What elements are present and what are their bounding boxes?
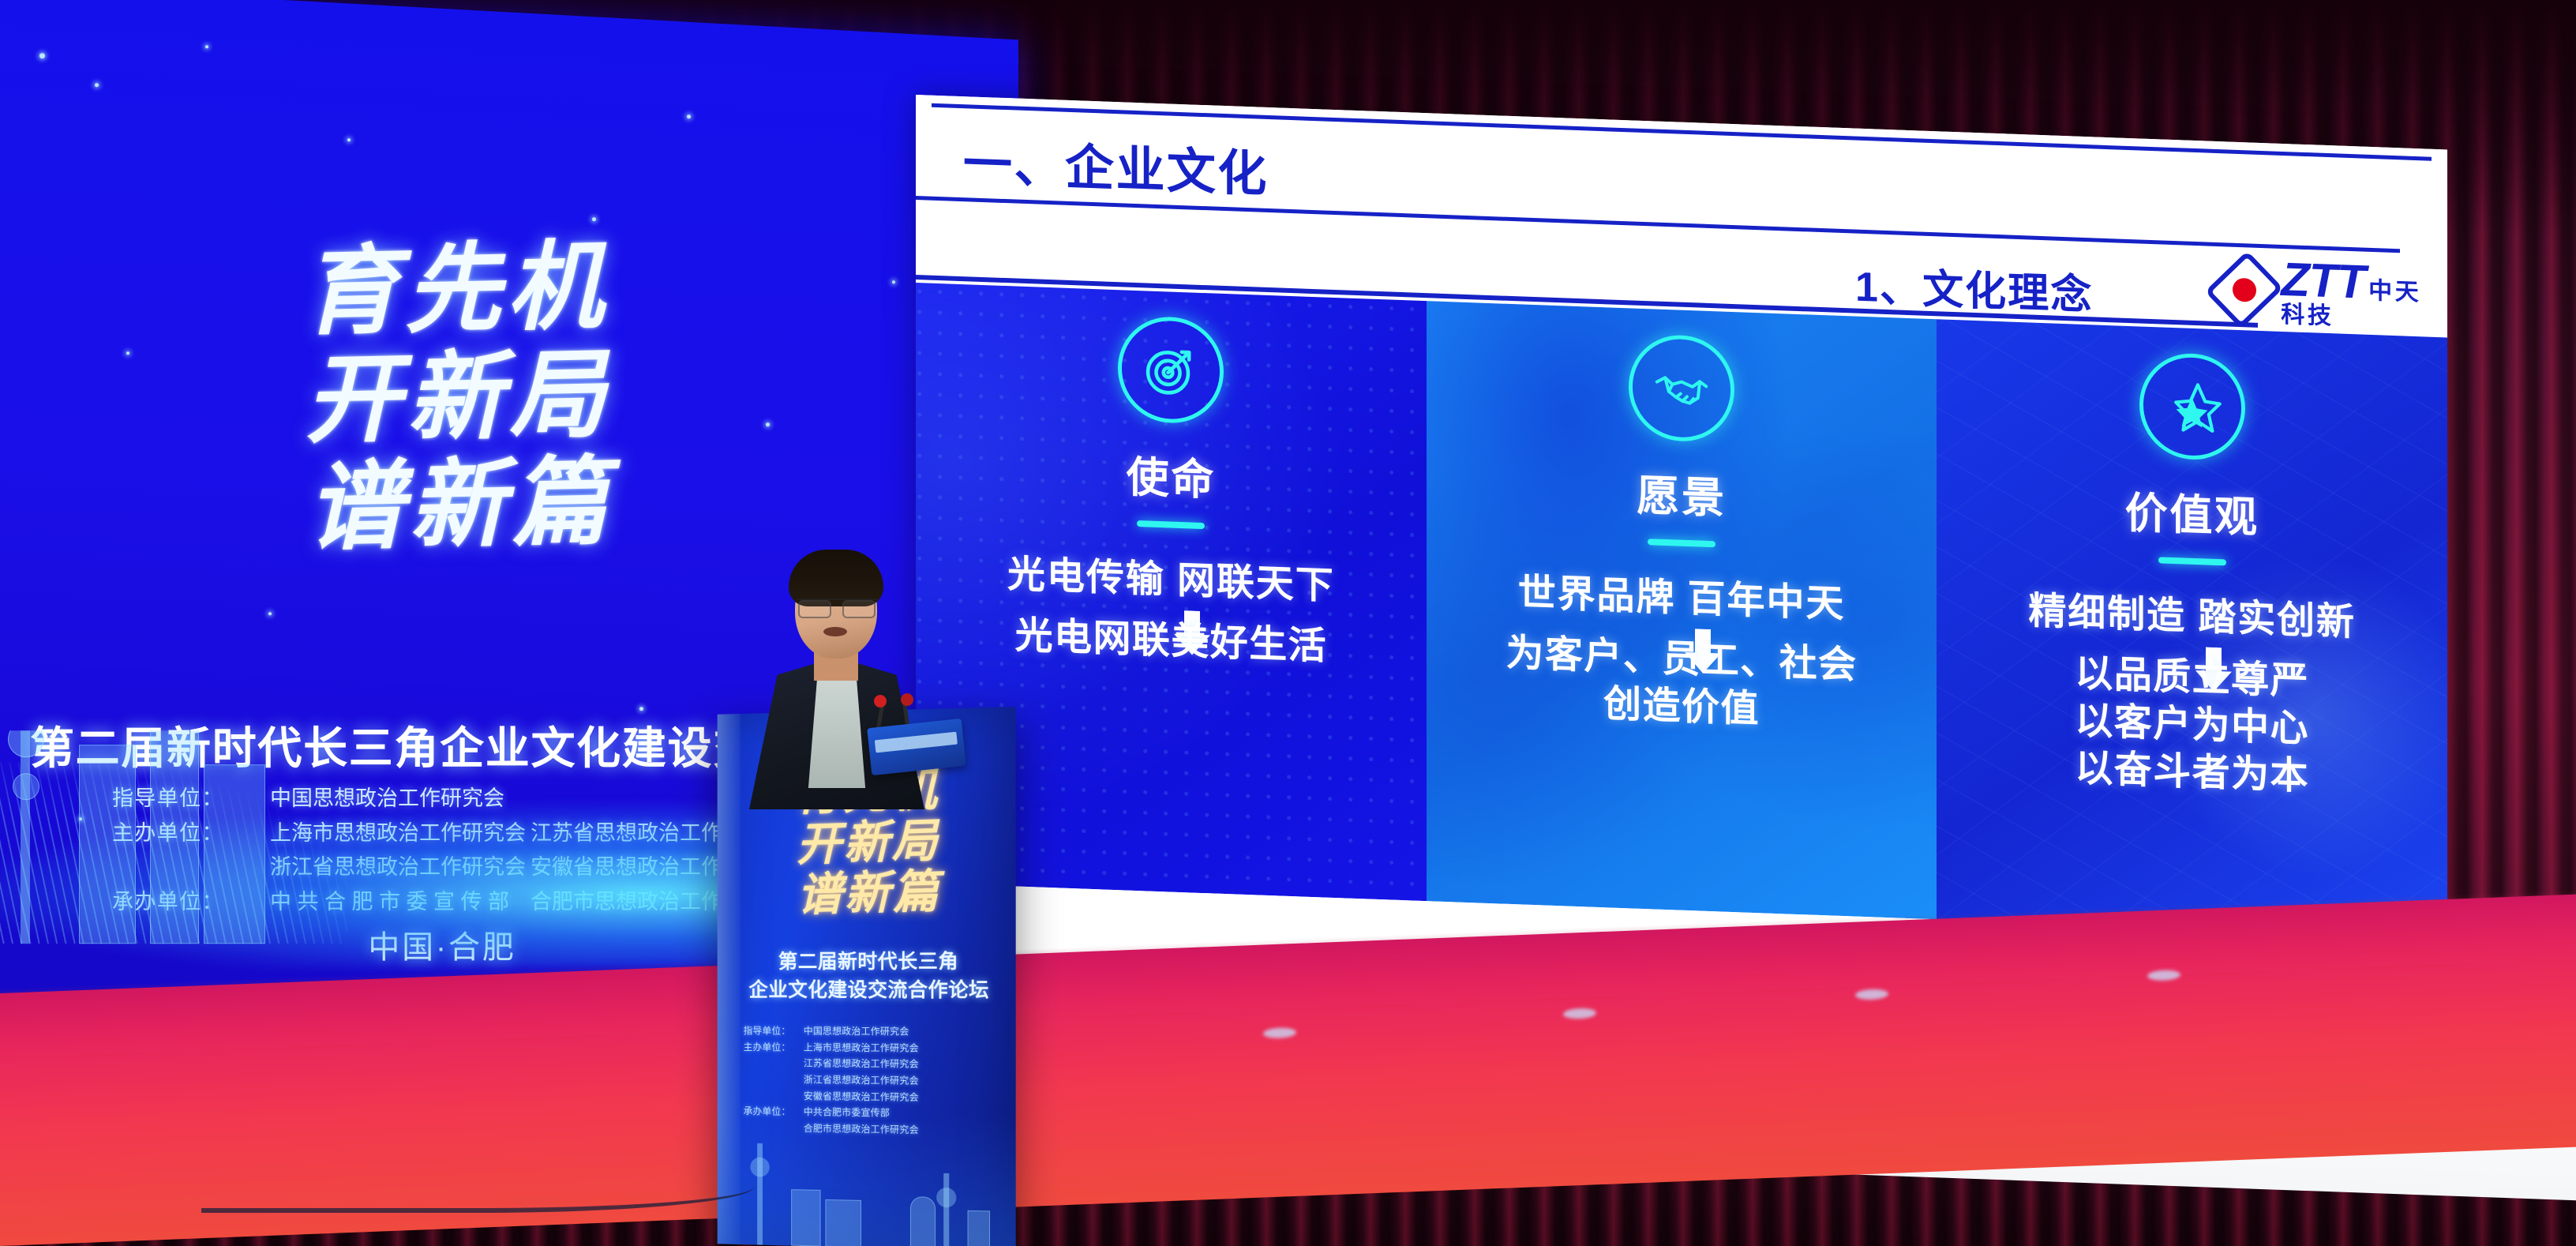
target-icon: [1118, 315, 1224, 425]
slide-columns: 使命 光电传输 网联天下 光电网联美好生活: [916, 283, 2447, 937]
podium-calligraphy-line-2: 开新局: [751, 814, 988, 872]
podium-calligraphy-line-3: 谱新篇: [752, 865, 988, 921]
calligraphy-line-3: 谱新篇: [253, 448, 666, 565]
podium-organizer-row: 指导单位： 中国思想政治工作研究会: [744, 1023, 1003, 1040]
podium-subtitle-line-1: 第二届新时代长三角: [736, 947, 1003, 976]
podium-organizer-label: [744, 1071, 804, 1088]
speaker-person: [738, 545, 936, 805]
stage-cable: [201, 1161, 754, 1213]
column-divider: [2158, 557, 2226, 565]
podium-organizer-value: 江苏省思想政治工作研究会: [804, 1056, 919, 1073]
column-line-1: 世界品牌 百年中天: [1427, 557, 1937, 631]
backdrop-calligraphy: 育先机 开新局 谱新篇: [249, 233, 666, 565]
column-line-1: 光电传输 网联天下: [916, 539, 1427, 613]
podium-organizer-row: 江苏省思想政治工作研究会: [744, 1055, 1003, 1073]
podium-organizer-label: [744, 1087, 804, 1104]
podium-subtitle: 第二届新时代长三角 企业文化建设交流合作论坛: [736, 947, 1003, 1004]
column-heading: 使命: [916, 434, 1427, 515]
column-line-2-row: 光电网联美好生活: [916, 609, 1427, 674]
podium-organizer-label: [744, 1055, 804, 1071]
glasses-icon: [797, 599, 877, 616]
tv-tower-icon: [21, 730, 30, 944]
slide-title: 一、企业文化: [963, 123, 1269, 205]
calligraphy-line-2: 开新局: [252, 340, 665, 456]
podium-pagoda-icon: [943, 1173, 949, 1246]
podium-organizer-value: 上海市思想政治工作研究会: [804, 1039, 919, 1056]
column-heading: 价值观: [1937, 471, 2447, 551]
slide-column-vision: 愿景 世界品牌 百年中天 为客户、员工、社会 创造价值: [1427, 301, 1937, 919]
ztt-logo: ZTT 中天科技: [2218, 253, 2447, 332]
slide-rule-middle: [916, 196, 2400, 253]
column-divider: [1648, 539, 1715, 547]
podium-organizer-value: 浙江省思想政治工作研究会: [804, 1071, 919, 1089]
microphone-head-2: [901, 693, 913, 706]
column-heading: 愿景: [1427, 452, 1937, 533]
podium-organizer-value: 安徽省思想政治工作研究会: [804, 1088, 919, 1105]
podium-mic-plate: [867, 719, 966, 775]
column-divider: [1137, 520, 1205, 529]
speaker-mouth: [823, 627, 847, 636]
column-line-2: 以品质立尊严 以客户为中心 以奋斗者为本: [1937, 645, 2447, 805]
column-line-2: 光电网联美好生活: [916, 609, 1427, 674]
podium-skyline-graphic: [718, 1112, 1016, 1246]
conference-stage-photo: 育先机 开新局 谱新篇 第二届新时代长三角企业文化建设交流 指导单位： 中国思想…: [0, 0, 2576, 1246]
podium-organizer-row: 主办单位： 上海市思想政治工作研究会: [744, 1039, 1003, 1057]
podium-tv-tower-icon: [757, 1143, 763, 1245]
star-icon: [2139, 351, 2245, 461]
podium-organizer-value: 中国思想政治工作研究会: [804, 1023, 909, 1040]
calligraphy-line-1: 育先机: [249, 233, 662, 349]
podium-organizer-label: 主办单位：: [744, 1039, 804, 1056]
column-line-2: 为客户、员工、社会 创造价值: [1427, 627, 1937, 740]
podium-organizer-label: 指导单位：: [744, 1023, 804, 1039]
ztt-diamond-icon: [2218, 259, 2270, 321]
podium-subtitle-line-2: 企业文化建设交流合作论坛: [736, 976, 1003, 1005]
column-line-1: 精细制造 踏实创新: [1937, 576, 2447, 649]
ztt-logo-en: ZTT: [2281, 253, 2364, 309]
handshake-icon: [1629, 333, 1734, 443]
microphone-head: [874, 695, 887, 707]
slide-column-values: 价值观 精细制造 踏实创新 以品质立尊严 以客户为中心 以奋斗者为本: [1937, 319, 2447, 937]
